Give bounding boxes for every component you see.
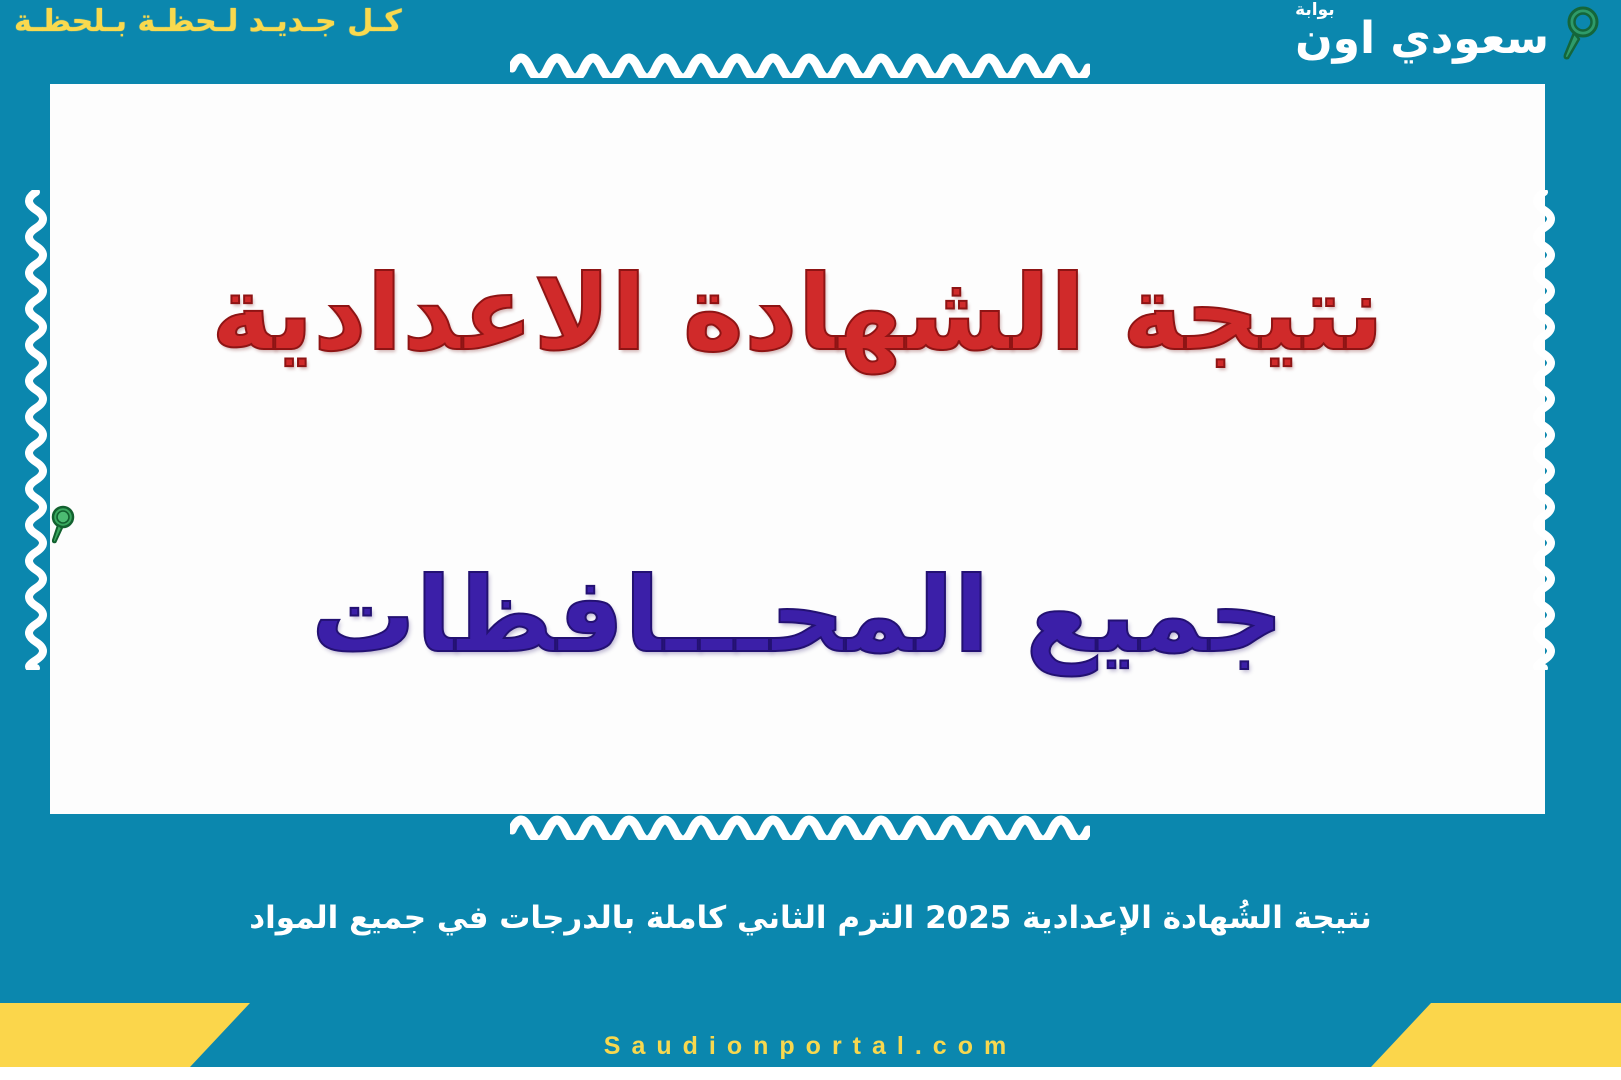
page-title-primary: نتيجة الشهادة الاعدادية: [50, 252, 1545, 374]
site-url[interactable]: Saudionportal.com: [0, 1032, 1621, 1061]
mini-magnifier-icon: [48, 504, 78, 544]
page-title-secondary: جميع المحـــافظات: [50, 554, 1545, 676]
poster-canvas: كـل جـديـد لـحظـة بـلحظـة بوابة سعودي او…: [0, 0, 1621, 1080]
brand-main-label: سعودي اون: [1295, 17, 1549, 61]
brand-logo[interactable]: بوابة سعودي اون: [1295, 2, 1605, 61]
wave-line-right-icon: [1528, 190, 1560, 670]
site-tagline: كـل جـديـد لـحظـة بـلحظـة: [14, 4, 402, 39]
poster-caption: نتيجة الشُهادة الإعدادية 2025 الترم الثا…: [0, 900, 1621, 936]
wave-line-bottom-icon: [510, 808, 1090, 840]
wave-line-top-icon: [510, 46, 1090, 78]
bottom-white-strip: [0, 1067, 1621, 1080]
magnifier-icon: [1559, 3, 1605, 61]
poster-card: نتيجة الشهادة الاعدادية جميع المحـــافظا…: [50, 84, 1545, 814]
wave-line-left-icon: [20, 190, 52, 670]
